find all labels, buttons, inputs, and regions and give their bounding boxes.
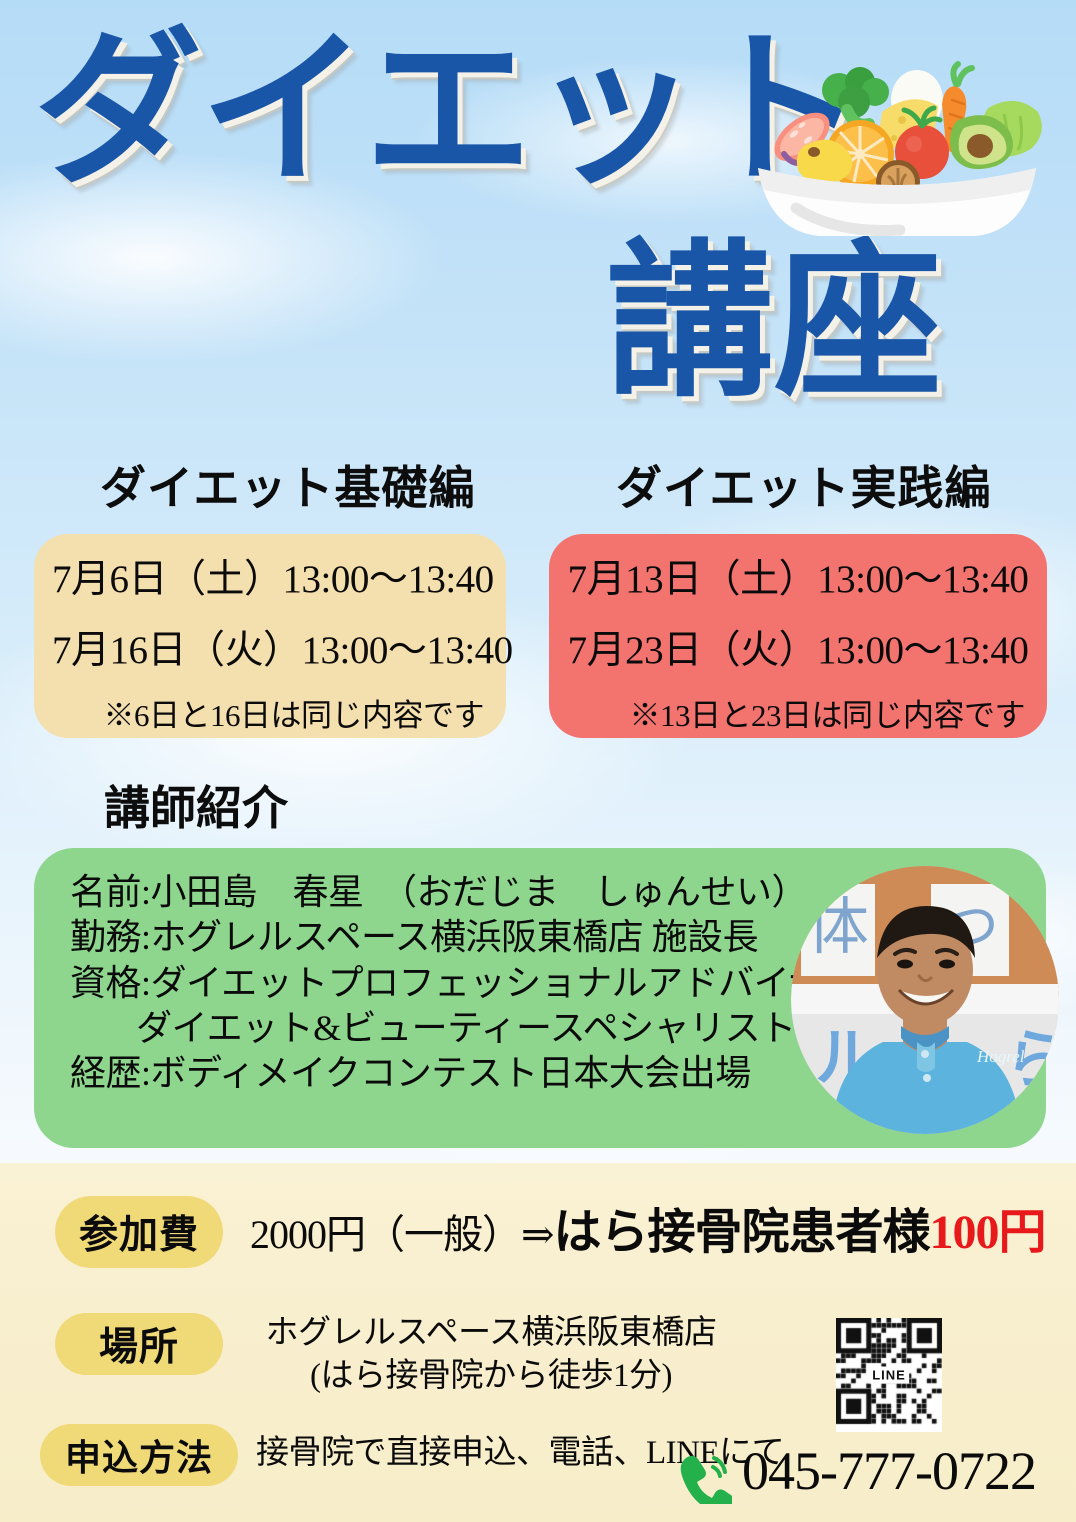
fee-value: 2000円（一般）⇒はら接骨院患者様100円: [250, 1198, 1046, 1270]
apply-label-pill: 申込方法: [40, 1424, 238, 1486]
course-heading-practice: ダイエット実践編: [616, 452, 992, 518]
schedule-date-1: 7月13日（土）13:00〜13:40: [567, 560, 1029, 599]
course-heading-basic: ダイエット基礎編: [100, 452, 476, 518]
phone-number[interactable]: 045-777-0722: [742, 1444, 1036, 1498]
place-value: ホグレルスペース横浜阪東橋店 (はら接骨院から徒歩1分): [256, 1312, 726, 1398]
schedule-date-2: 7月23日（火）13:00〜13:40: [567, 631, 1029, 670]
poster-root: ダイエット 講座: [0, 0, 1076, 1522]
fee-arrow-icon: ⇒: [521, 1212, 554, 1257]
place-line-1: ホグレルスペース横浜阪東橋店: [256, 1312, 726, 1355]
fee-amount: 2000円（一般）: [250, 1212, 521, 1257]
schedule-note: ※6日と16日は同じ内容です: [52, 700, 488, 731]
salad-bowl-icon: [742, 42, 1052, 242]
svg-text:Hogrel: Hogrel: [976, 1047, 1025, 1066]
fee-discount-prefix: はら接骨院患者様: [554, 1206, 930, 1259]
schedule-date-2: 7月16日（火）13:00〜13:40: [52, 631, 488, 670]
page-title: ダイエット: [34, 28, 862, 196]
qr-line-label: LINE: [869, 1367, 909, 1384]
fee-label-pill: 参加費: [55, 1196, 223, 1268]
schedule-date-1: 7月6日（土）13:00〜13:40: [52, 560, 488, 599]
place-label-pill: 場所: [55, 1313, 223, 1375]
place-line-2: (はら接骨院から徒歩1分): [256, 1355, 726, 1398]
line-qr-code[interactable]: LINE: [836, 1318, 942, 1432]
fee-discount-price: 100円: [930, 1206, 1046, 1259]
page-title-sub: 講座: [606, 240, 942, 408]
schedule-box-practice: 7月13日（土）13:00〜13:40 7月23日（火）13:00〜13:40 …: [549, 534, 1047, 738]
instructor-photo: 体 つ ル ら Hogrel: [791, 866, 1059, 1134]
phone-ringing-icon: [676, 1452, 732, 1504]
schedule-note: ※13日と23日は同じ内容です: [567, 700, 1029, 731]
instructor-heading: 講師紹介: [104, 772, 288, 838]
schedule-box-basic: 7月6日（土）13:00〜13:40 7月16日（火）13:00〜13:40 ※…: [34, 534, 506, 738]
